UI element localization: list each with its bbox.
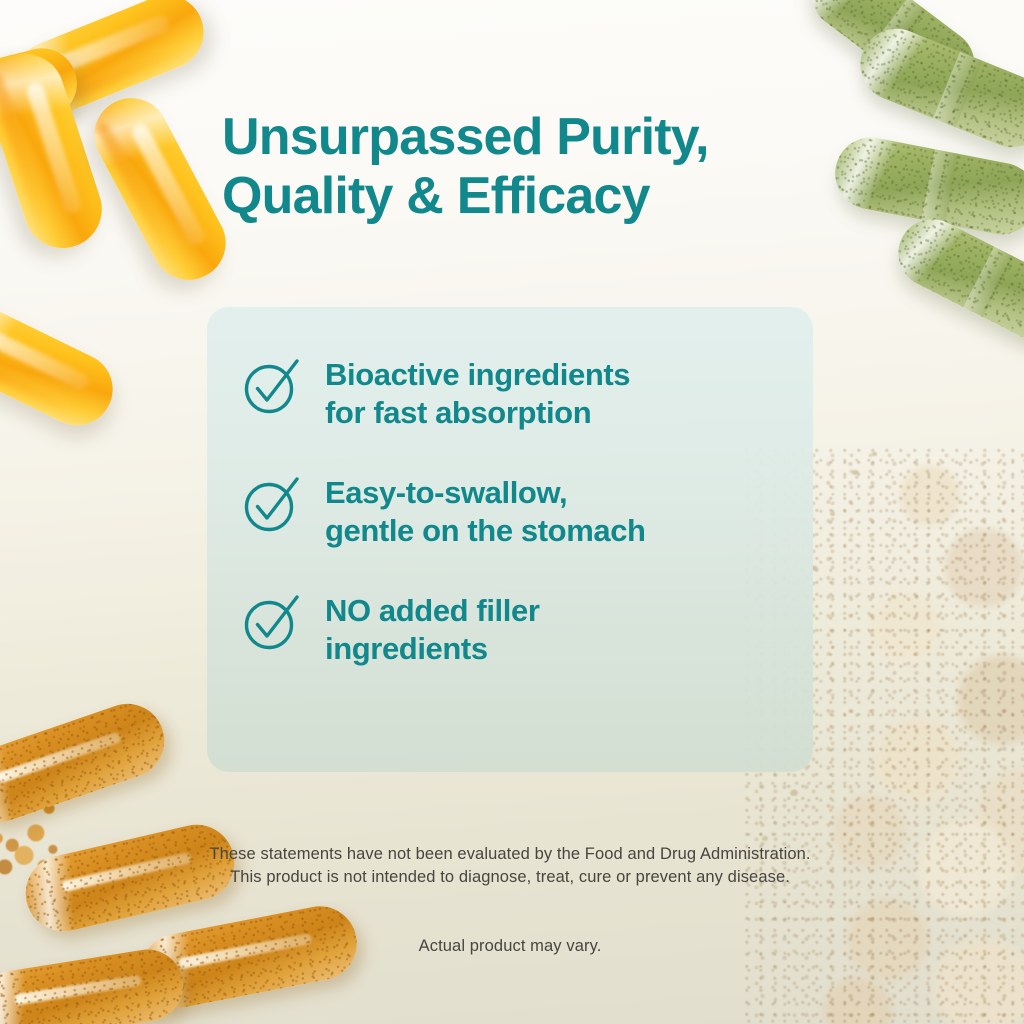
yellow-softgel-capsule <box>81 85 238 293</box>
powder-speck <box>762 836 768 841</box>
benefit-label: NO added filler ingredients <box>325 589 539 669</box>
capsule-joint <box>921 149 959 224</box>
capsule-highlight <box>14 975 142 1006</box>
green-herbal-capsule <box>887 207 1024 352</box>
benefits-card: Bioactive ingredients for fast absorptio… <box>207 307 813 772</box>
check-circle-icon <box>241 355 303 417</box>
capsule-highlight <box>0 731 122 784</box>
page-title: Unsurpassed Purity, Quality & Efficacy <box>222 108 842 227</box>
yellow-softgel-capsule <box>0 295 125 438</box>
loose-turmeric-powder <box>0 818 64 886</box>
turmeric-powder-capsule <box>0 944 188 1024</box>
green-herbal-capsule <box>829 131 1024 241</box>
green-herbal-capsule <box>798 0 989 113</box>
green-herbal-capsule <box>850 18 1024 158</box>
powder-speck <box>872 452 877 456</box>
product-benefits-banner: Unsurpassed Purity, Quality & Efficacy B… <box>0 0 1024 1024</box>
capsule-highlight <box>61 852 192 893</box>
powder-speck <box>852 470 859 475</box>
benefit-label: Easy-to-swallow, gentle on the stomach <box>325 471 646 551</box>
capsule-joint <box>963 246 1014 317</box>
fda-disclaimer-text: These statements have not been evaluated… <box>205 843 815 890</box>
benefit-label: Bioactive ingredients for fast absorptio… <box>325 353 630 433</box>
benefit-item: Easy-to-swallow, gentle on the stomach <box>241 471 779 551</box>
yellow-softgel-capsule <box>0 41 84 145</box>
check-circle-icon <box>241 473 303 535</box>
yellow-softgel-capsule <box>5 0 214 126</box>
loose-turmeric-powder <box>0 716 86 848</box>
powder-speck <box>790 790 798 796</box>
benefit-item: Bioactive ingredients for fast absorptio… <box>241 353 779 433</box>
capsule-joint <box>866 0 926 66</box>
check-circle-icon <box>241 591 303 653</box>
product-variance-disclaimer: Actual product may vary. <box>205 935 815 958</box>
yellow-softgel-capsule <box>0 44 112 258</box>
capsule-joint <box>933 52 982 128</box>
powder-speck <box>830 512 835 516</box>
benefit-item: NO added filler ingredients <box>241 589 779 669</box>
turmeric-powder-capsule <box>0 694 174 832</box>
